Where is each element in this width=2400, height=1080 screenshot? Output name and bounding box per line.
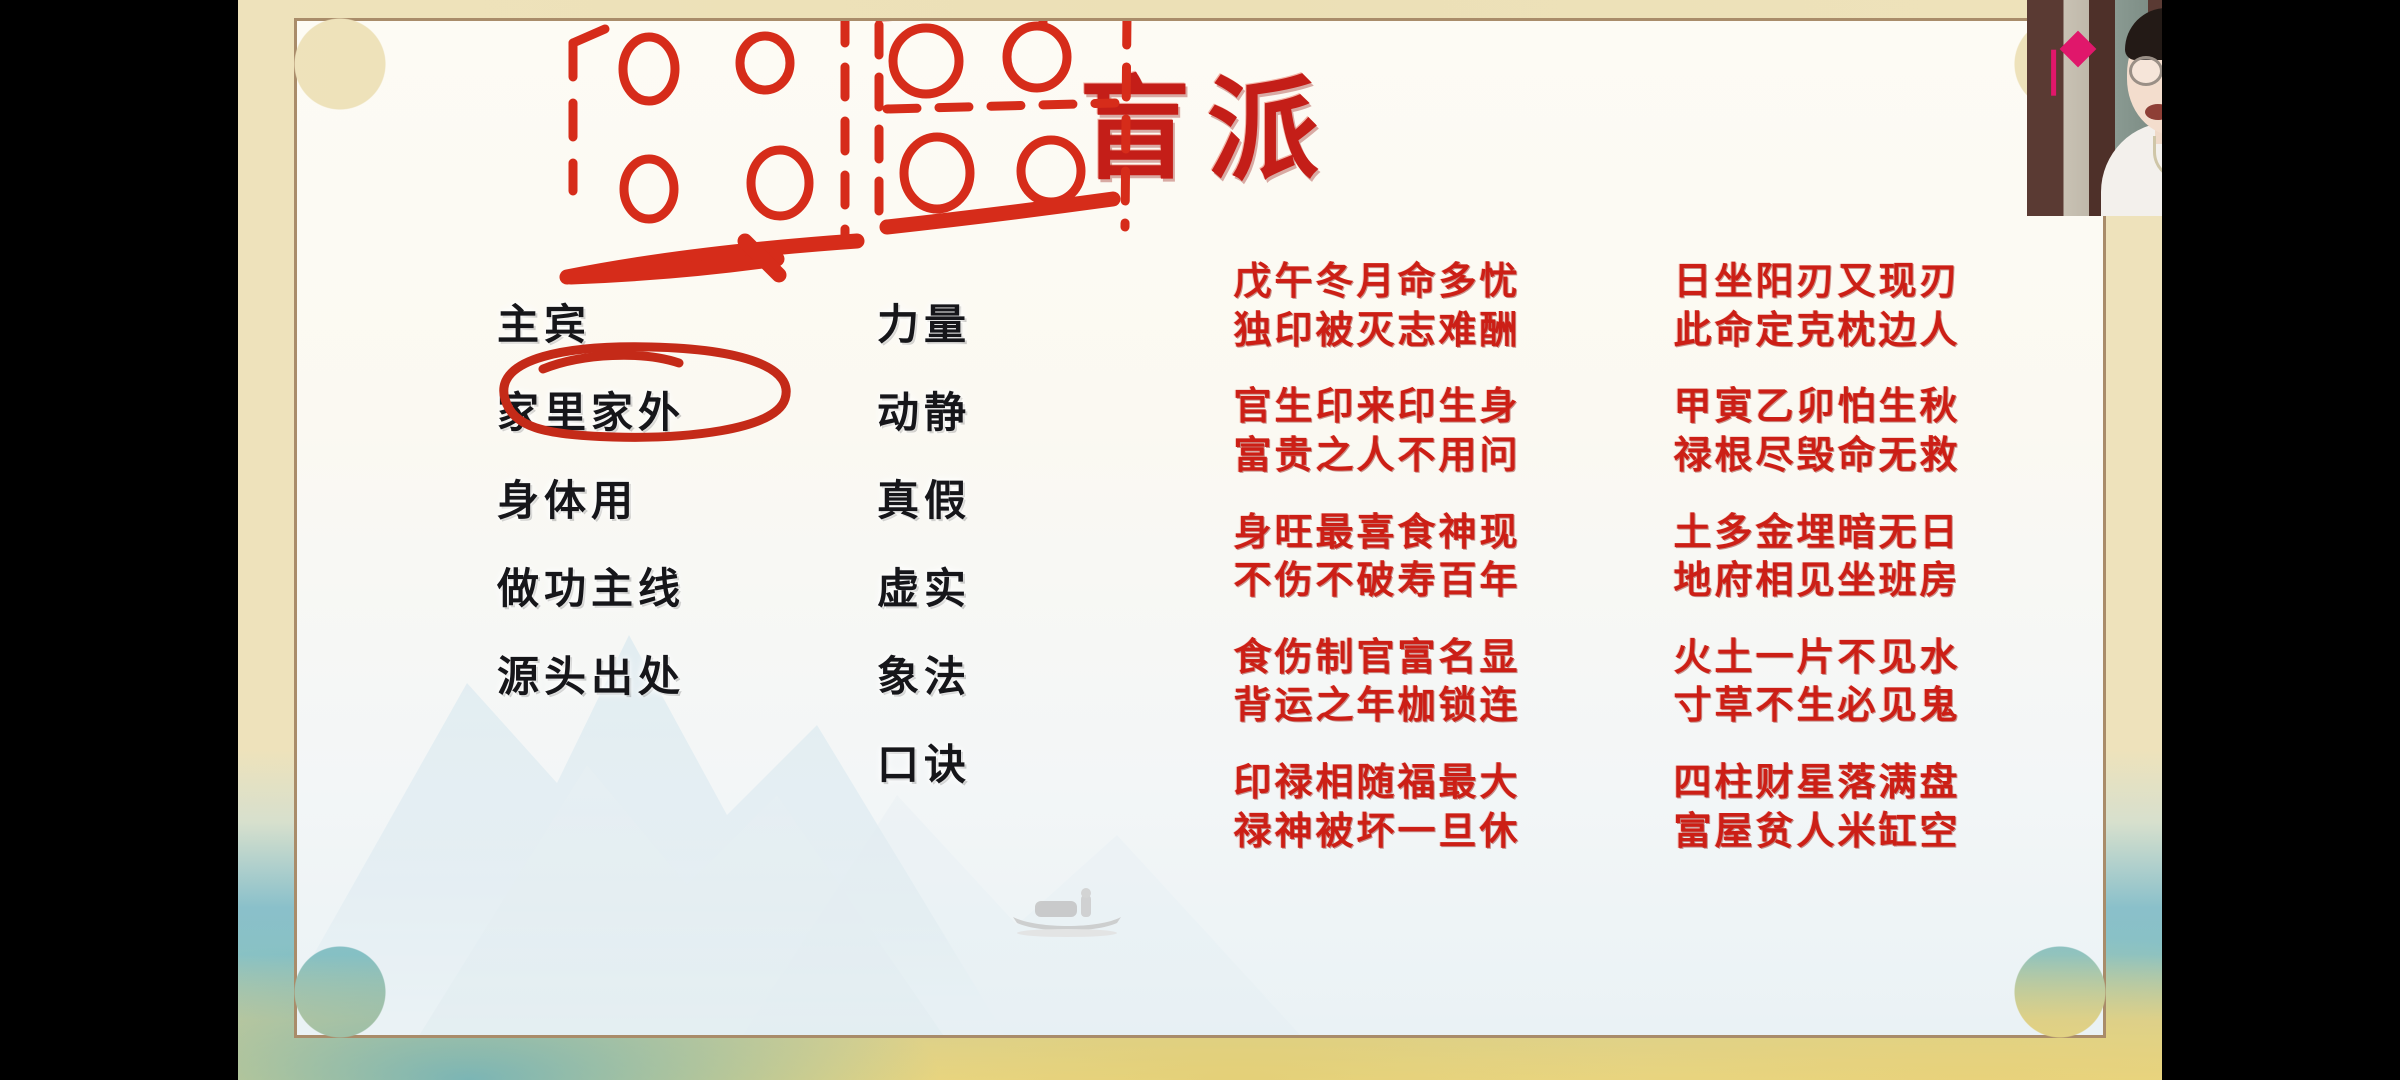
verses-column-right: 日坐阳刃又现刃 此命定克枕边人 甲寅乙卯怕生秋 禄根尽毁命无救 土多金埋暗无日 … [1617, 257, 2017, 883]
verse-line: 寸草不生必见鬼 [1617, 681, 2017, 730]
couplet: 土多金埋暗无日 地府相见坐班房 [1617, 508, 2017, 605]
verse-line: 印禄相随福最大 [1177, 758, 1577, 807]
verse-line: 戊午冬月命多忧 [1177, 257, 1577, 306]
method-item-5[interactable]: 象法 [877, 643, 1107, 683]
method-item-4[interactable]: 虚实 [877, 555, 1107, 595]
couplet: 食伤制官富名显 背运之年枷锁连 [1177, 633, 1577, 730]
webcam-overlay[interactable] [2027, 0, 2162, 216]
couplet: 印禄相随福最大 禄神被坏一旦休 [1177, 758, 1577, 855]
glasses-left-lens-icon [2129, 56, 2162, 86]
verse-line: 四柱财星落满盘 [1617, 758, 2017, 807]
method-item-1[interactable]: 力量 [877, 291, 1107, 331]
verse-line: 独印被灭志难酬 [1177, 306, 1577, 355]
verse-line: 身旺最喜食神现 [1177, 508, 1577, 557]
highlight-ellipse-icon [473, 339, 803, 443]
couplet: 四柱财星落满盘 富屋贫人米缸空 [1617, 758, 2017, 855]
couplet: 甲寅乙卯怕生秋 禄根尽毁命无救 [1617, 382, 2017, 479]
topic-item-4[interactable]: 做功主线 [497, 555, 827, 595]
verse-line: 背运之年枷锁连 [1177, 681, 1577, 730]
couplet: 戊午冬月命多忧 独印被灭志难酬 [1177, 257, 1577, 354]
method-item-2[interactable]: 动静 [877, 379, 1107, 419]
verse-line: 官生印来印生身 [1177, 382, 1577, 431]
topic-item-1[interactable]: 主宾 [497, 291, 827, 331]
verse-line: 甲寅乙卯怕生秋 [1617, 382, 2017, 431]
screen-root: 盲派 [0, 0, 2400, 1080]
couplet: 火土一片不见水 寸草不生必见鬼 [1617, 633, 2017, 730]
verse-line: 食伤制官富名显 [1177, 633, 1577, 682]
verse-line: 火土一片不见水 [1617, 633, 2017, 682]
method-item-3[interactable]: 真假 [877, 467, 1107, 507]
verses-column-left: 戊午冬月命多忧 独印被灭志难酬 官生印来印生身 富贵之人不用问 身旺最喜食神现 … [1177, 257, 1577, 883]
topic-item-5[interactable]: 源头出处 [497, 643, 827, 683]
page-title: 盲派 [1079, 75, 1335, 187]
verse-line: 富贵之人不用问 [1177, 431, 1577, 480]
verse-line: 此命定克枕边人 [1617, 306, 2017, 355]
methods-column: 力量 动静 真假 虚实 象法 口诀 [877, 291, 1107, 819]
verse-line: 日坐阳刃又现刃 [1617, 257, 2017, 306]
couplet: 日坐阳刃又现刃 此命定克枕边人 [1617, 257, 2017, 354]
verse-line: 土多金埋暗无日 [1617, 508, 2017, 557]
verse-line: 禄神被坏一旦休 [1177, 807, 1577, 856]
couplet: 身旺最喜食神现 不伤不破寿百年 [1177, 508, 1577, 605]
verse-line: 富屋贫人米缸空 [1617, 807, 2017, 856]
slide-stage: 盲派 [238, 0, 2162, 1080]
letterbox-bar-left [0, 0, 238, 1080]
method-item-6[interactable]: 口诀 [877, 731, 1107, 771]
topic-item-3[interactable]: 身体用 [497, 467, 827, 507]
boat-watermark [1007, 883, 1127, 943]
hand-drawn-annotation-icon [527, 18, 1147, 301]
verse-line: 禄根尽毁命无救 [1617, 431, 2017, 480]
letterbox-bar-right [2162, 0, 2400, 1080]
verse-line: 地府相见坐班房 [1617, 556, 2017, 605]
verse-line: 不伤不破寿百年 [1177, 556, 1577, 605]
slide-content-panel: 盲派 [294, 18, 2106, 1038]
couplet: 官生印来印生身 富贵之人不用问 [1177, 382, 1577, 479]
